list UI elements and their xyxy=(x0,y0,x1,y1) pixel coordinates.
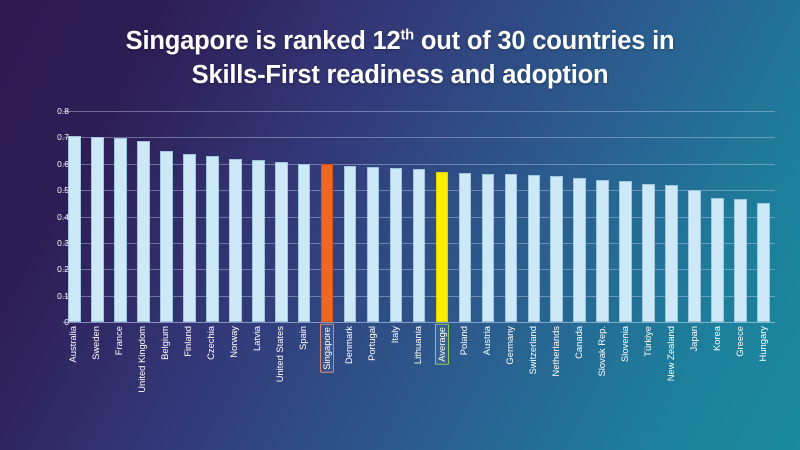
x-axis-label-france: France xyxy=(113,324,125,357)
x-axis-label-australia: Australia xyxy=(67,324,79,364)
y-axis-tick-label: 0.4 xyxy=(9,213,69,222)
bar-greece[interactable] xyxy=(734,199,747,322)
bar-belgium[interactable] xyxy=(160,151,173,322)
bar-austria[interactable] xyxy=(482,174,495,322)
x-axis-label-slovak-rep: Slovak Rep. xyxy=(596,324,608,379)
bar-sweden[interactable] xyxy=(91,137,104,322)
x-axis-label-japan: Japan xyxy=(688,324,700,354)
bar-singapore[interactable] xyxy=(321,164,334,322)
x-axis-label-t-rkiye: Türkiye xyxy=(642,324,654,359)
x-axis-label-austria: Austria xyxy=(481,324,493,357)
title-line-1-post: out of 30 countries in xyxy=(414,27,674,55)
bar-switzerland[interactable] xyxy=(528,175,541,322)
x-axis-label-netherlands: Netherlands xyxy=(550,324,562,379)
x-axis-label-korea: Korea xyxy=(711,324,723,353)
bar-italy[interactable] xyxy=(390,168,403,322)
x-axis-label-slovenia: Slovenia xyxy=(619,324,631,364)
title-line-1-pre: Singapore is ranked 12 xyxy=(126,27,401,55)
x-axis-line xyxy=(63,322,775,323)
x-axis-label-belgium: Belgium xyxy=(159,324,171,362)
x-axis-label-germany: Germany xyxy=(504,324,516,367)
bar-hungary[interactable] xyxy=(757,203,770,322)
bar-latvia[interactable] xyxy=(252,160,265,322)
chart-x-axis-labels: AustraliaSwedenFranceUnited KingdomBelgi… xyxy=(63,324,775,434)
x-axis-label-greece: Greece xyxy=(734,324,746,359)
y-axis-tick-label: 0 xyxy=(9,318,69,327)
x-axis-label-hungary: Hungary xyxy=(757,324,769,363)
bar-spain[interactable] xyxy=(298,164,311,322)
x-axis-label-switzerland: Switzerland xyxy=(527,324,539,376)
bar-t-rkiye[interactable] xyxy=(642,184,655,322)
x-axis-label-denmark: Denmark xyxy=(343,324,355,366)
slide-canvas: Singapore is ranked 12th out of 30 count… xyxy=(0,0,800,450)
bar-united-states[interactable] xyxy=(275,162,288,322)
y-axis-tick-label: 0.1 xyxy=(9,292,69,301)
bar-slovenia[interactable] xyxy=(619,181,632,322)
x-axis-label-new-zealand: New Zealand xyxy=(665,324,677,383)
x-axis-label-italy: Italy xyxy=(389,324,401,345)
x-axis-label-norway: Norway xyxy=(228,324,240,360)
x-axis-label-latvia: Latvia xyxy=(251,324,263,353)
x-axis-label-united-states: United States xyxy=(274,324,286,384)
y-axis-tick-label: 0.6 xyxy=(9,160,69,169)
x-axis-label-united-kingdom: United Kingdom xyxy=(136,324,148,395)
x-axis-label-singapore: Singapore xyxy=(320,324,334,373)
bar-finland[interactable] xyxy=(183,154,196,322)
x-axis-label-spain: Spain xyxy=(297,324,309,352)
chart-bars xyxy=(63,111,775,322)
bar-korea[interactable] xyxy=(711,198,724,322)
y-axis-tick-label: 0.3 xyxy=(9,239,69,248)
bar-netherlands[interactable] xyxy=(550,176,563,322)
bar-new-zealand[interactable] xyxy=(665,185,678,322)
title-ordinal-suffix: th xyxy=(400,28,414,44)
bar-united-kingdom[interactable] xyxy=(137,141,150,322)
x-axis-label-lithuania: Lithuania xyxy=(412,324,424,366)
x-axis-label-czechia: Czechia xyxy=(205,324,217,362)
bar-germany[interactable] xyxy=(505,174,518,322)
bar-france[interactable] xyxy=(114,138,127,322)
bar-portugal[interactable] xyxy=(367,167,380,322)
bar-australia[interactable] xyxy=(68,136,81,322)
y-axis-tick-label: 0.8 xyxy=(9,107,69,116)
x-axis-label-poland: Poland xyxy=(458,324,470,357)
bar-lithuania[interactable] xyxy=(413,169,426,322)
x-axis-label-average: Average xyxy=(435,324,449,365)
chart-plot-area: 0.80.70.60.50.40.30.20.10 xyxy=(63,111,775,322)
x-axis-label-portugal: Portugal xyxy=(366,324,378,363)
bar-czechia[interactable] xyxy=(206,156,219,322)
bar-denmark[interactable] xyxy=(344,166,357,322)
slide-title: Singapore is ranked 12th out of 30 count… xyxy=(0,24,800,92)
y-axis-tick-label: 0.7 xyxy=(9,133,69,142)
bar-canada[interactable] xyxy=(573,178,586,322)
y-axis-tick-label: 0.5 xyxy=(9,186,69,195)
y-axis-tick-label: 0.2 xyxy=(9,265,69,274)
bar-poland[interactable] xyxy=(459,173,472,322)
title-line-2: Skills-First readiness and adoption xyxy=(0,58,800,92)
bar-average[interactable] xyxy=(436,172,449,322)
x-axis-label-finland: Finland xyxy=(182,324,194,359)
x-axis-label-sweden: Sweden xyxy=(90,324,102,362)
bar-japan[interactable] xyxy=(688,190,701,322)
bar-norway[interactable] xyxy=(229,159,242,322)
x-axis-label-canada: Canada xyxy=(573,324,585,361)
bar-slovak-rep[interactable] xyxy=(596,180,609,322)
